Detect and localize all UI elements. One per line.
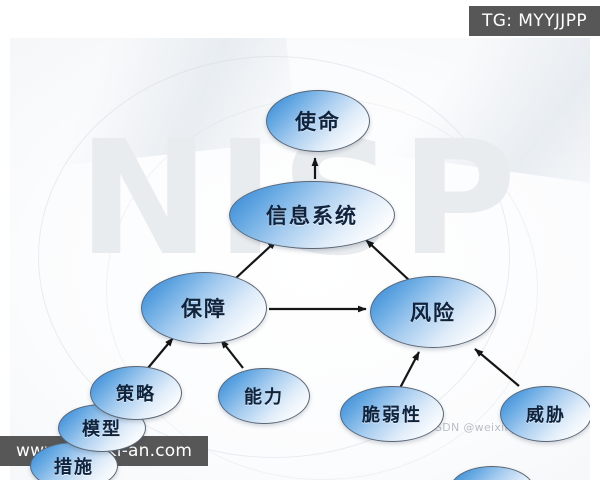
edge-threat-to-risk <box>475 349 519 386</box>
telegram-watermark-badge: TG: MYYJJPP <box>469 6 600 36</box>
edge-capability-to-assurance <box>221 340 243 368</box>
telegram-watermark-text: TG: MYYJJPP <box>482 11 587 31</box>
node-risk-label: 风险 <box>410 297 456 327</box>
node-measure-label: 措施 <box>54 453 94 479</box>
node-assurance-label: 保障 <box>181 293 227 323</box>
node-risk[interactable]: 风险 <box>370 276 496 348</box>
node-threat[interactable]: 威胁 <box>500 386 590 442</box>
node-threat-label: 威胁 <box>526 401 566 427</box>
node-information-system-label: 信息系统 <box>266 200 358 230</box>
node-vulnerability[interactable]: 脆弱性 <box>340 386 444 442</box>
node-partial-bottom[interactable] <box>450 466 534 480</box>
node-model-label: 模型 <box>82 415 122 441</box>
screenshot-root: NISP 措施 模型 <box>0 0 600 480</box>
edge-risk-to-infosystem <box>366 240 410 281</box>
node-strategy[interactable]: 策略 <box>90 366 182 420</box>
node-vulnerability-label: 脆弱性 <box>362 401 422 427</box>
node-capability[interactable]: 能力 <box>218 368 310 424</box>
node-information-system[interactable]: 信息系统 <box>229 181 395 249</box>
node-mission[interactable]: 使命 <box>266 90 370 152</box>
node-capability-label: 能力 <box>244 383 284 409</box>
node-assurance[interactable]: 保障 <box>141 272 267 344</box>
edge-strategy-to-assurance <box>148 338 173 368</box>
edge-vulnerability-to-risk <box>400 352 419 388</box>
backdrop-sheen-top-left <box>10 38 297 174</box>
diagram-canvas: NISP 措施 模型 <box>10 38 590 480</box>
node-mission-label: 使命 <box>295 106 341 136</box>
edge-assurance-to-infosystem <box>236 241 276 278</box>
node-strategy-label: 策略 <box>116 380 156 406</box>
